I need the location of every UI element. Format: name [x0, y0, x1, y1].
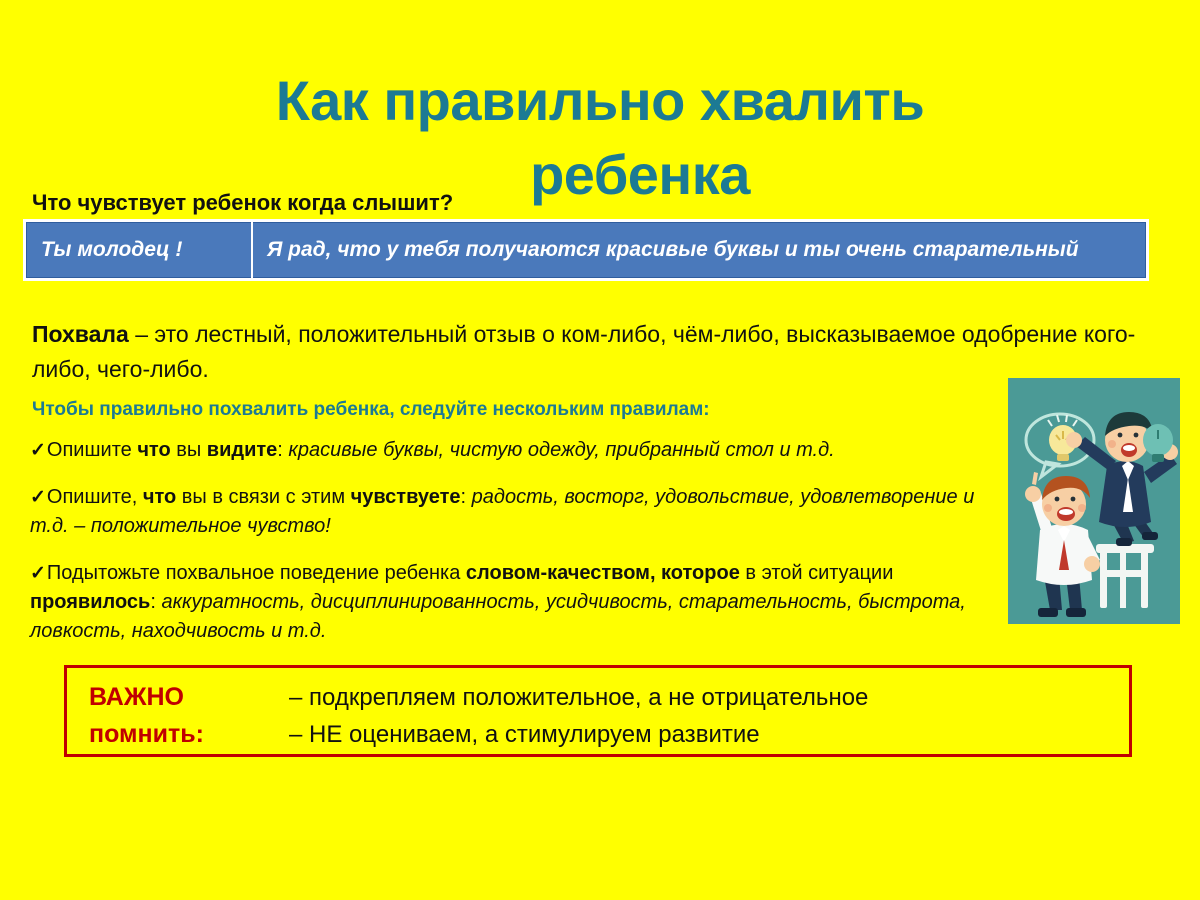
bullet-text-plain-2: вы — [171, 439, 207, 461]
bullet-text-bold-1: что — [143, 486, 176, 508]
important-callout-box: ВАЖНО – подкрепляем положительное, а не … — [64, 665, 1132, 757]
bullet-text-plain-3: : — [150, 591, 161, 613]
important-text-line-2: – НЕ оцениваем, а стимулируем развитие — [289, 717, 1129, 752]
bullet-text-bold-1: словом-качеством, которое — [466, 562, 740, 584]
definition-term: Похвала — [32, 321, 129, 347]
praise-child-slide: Как правильно хвалить ребенка Что чувств… — [0, 0, 1200, 900]
bullet-text-plain-2: вы в связи с этим — [176, 486, 350, 508]
definition-body: – это лестный, положительный отзыв о ком… — [32, 321, 1135, 382]
list-item: ✓Опишите что вы видите: красивые буквы, … — [30, 436, 980, 465]
checkmark-icon: ✓ — [30, 440, 46, 461]
table-row: Ты молодец ! Я рад, что у тебя получаютс… — [27, 223, 1146, 278]
bullet-text-plain-1: Опишите — [47, 439, 137, 461]
bullet-text-plain-3: : — [461, 486, 472, 508]
bullet-text-italic-1: красивые буквы, чистую одежду, прибранны… — [288, 439, 834, 461]
checkmark-icon: ✓ — [30, 563, 46, 584]
bullet-text-italic-1: аккуратность, дисциплинированность, усид… — [30, 591, 966, 642]
bullet-text-bold-2: видите — [207, 439, 278, 461]
two-businessmen-with-lightbulb-illustration — [1008, 378, 1180, 624]
table-cell-praise-short: Ты молодец ! — [27, 223, 253, 278]
important-grid: ВАЖНО – подкрепляем положительное, а не … — [67, 668, 1129, 752]
bullet-text-plain-1: Подытожьте похвальное поведение ребенка — [47, 562, 466, 584]
rules-heading: Чтобы правильно похвалить ребенка, следу… — [32, 399, 710, 421]
important-text-line-1: – подкрепляем положительное, а не отрица… — [289, 680, 1129, 715]
important-label-line-2: помнить: — [89, 717, 289, 752]
bullet-text-plain-3: : — [277, 439, 288, 461]
illustration-svg — [1008, 378, 1180, 624]
bullet-text-plain-1: Опишите, — [47, 486, 143, 508]
table-cell-praise-detailed: Я рад, что у тебя получаются красивые бу… — [252, 223, 1146, 278]
list-item: ✓Подытожьте похвальное поведение ребенка… — [30, 559, 980, 646]
subtitle-question: Что чувствует ребенок когда слышит? — [32, 190, 453, 216]
feeling-examples-table: Ты молодец ! Я рад, что у тебя получаютс… — [26, 222, 1146, 278]
rules-list: ✓Опишите что вы видите: красивые буквы, … — [30, 436, 980, 664]
important-label-line-1: ВАЖНО — [89, 680, 289, 715]
checkmark-icon: ✓ — [30, 487, 46, 508]
list-item: ✓Опишите, что вы в связи с этим чувствуе… — [30, 483, 980, 541]
bullet-text-bold-1: что — [137, 439, 170, 461]
bullet-text-bold-2: проявилось — [30, 591, 150, 613]
page-title-line-1: Как правильно хвалить — [0, 64, 1200, 138]
definition-paragraph: Похвала – это лестный, положительный отз… — [32, 317, 1162, 387]
bullet-text-bold-2: чувствуете — [351, 486, 461, 508]
bullet-text-plain-2: в этой ситуации — [740, 562, 894, 584]
